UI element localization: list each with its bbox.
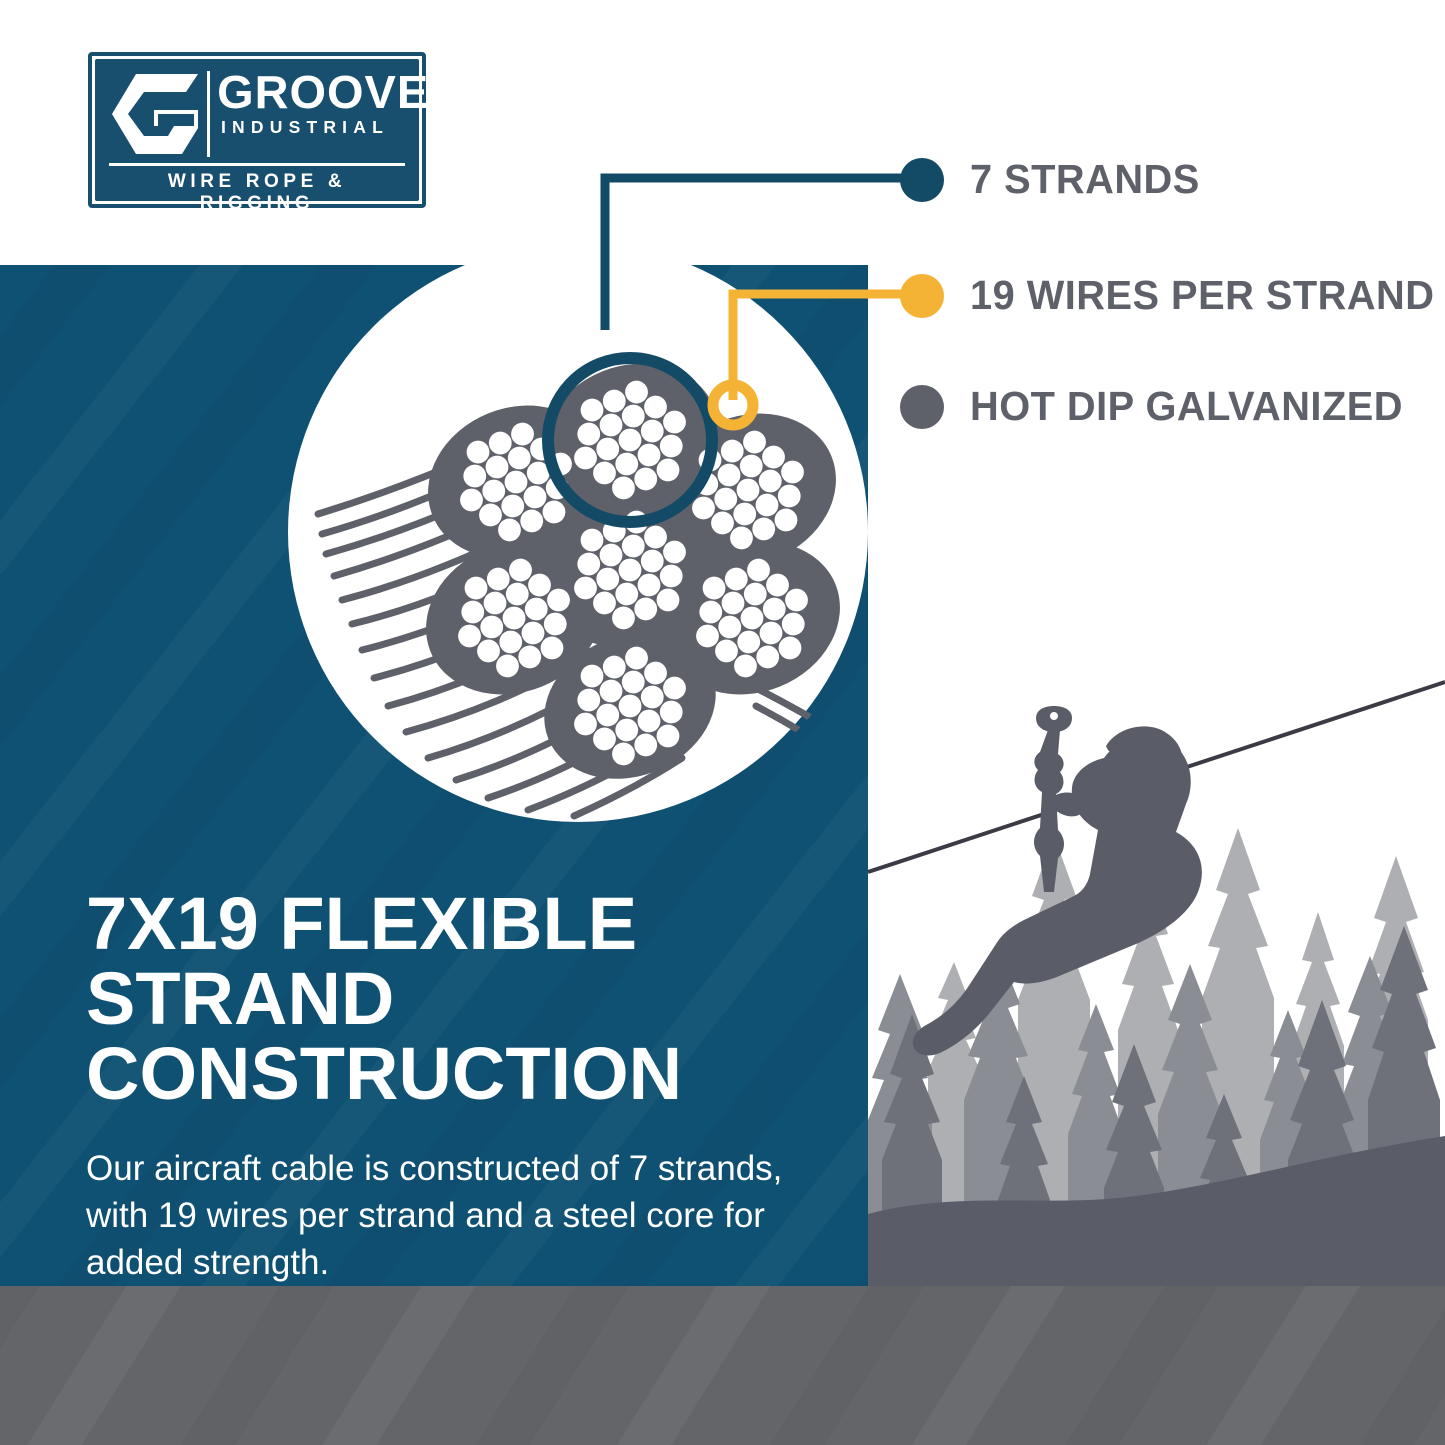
callout-label: 7 STRANDS — [970, 156, 1200, 203]
callout-strands: 7 STRANDS — [900, 156, 1207, 203]
leader-line-wires — [733, 294, 912, 400]
infographic-page: GROOVE INDUSTRIAL WIRE ROPE & RIGGING — [0, 0, 1445, 1445]
callout-label: 19 WIRES PER STRAND — [970, 272, 1434, 319]
title-line-2: STRAND CONSTRUCTION — [86, 957, 682, 1115]
callout-bullet-icon — [900, 385, 944, 429]
callout-bullet-icon — [900, 158, 944, 202]
bottom-gray-band — [0, 1286, 1445, 1445]
callout-label: HOT DIP GALVANIZED — [970, 383, 1403, 430]
zipline-scene — [868, 600, 1445, 1286]
callout-bullet-icon — [900, 274, 944, 318]
callout-galvanized: HOT DIP GALVANIZED — [900, 383, 1416, 430]
body-copy: Our aircraft cable is constructed of 7 s… — [86, 1145, 846, 1286]
title-line-1: 7X19 FLEXIBLE — [86, 882, 637, 965]
callout-wires-per-strand: 19 WIRES PER STRAND — [900, 272, 1445, 319]
band-stripe-texture — [0, 1286, 1445, 1445]
page-title: 7X19 FLEXIBLE STRAND CONSTRUCTION — [86, 886, 846, 1111]
headline-block: 7X19 FLEXIBLE STRAND CONSTRUCTION Our ai… — [86, 886, 846, 1286]
leader-line-strands — [605, 178, 912, 330]
